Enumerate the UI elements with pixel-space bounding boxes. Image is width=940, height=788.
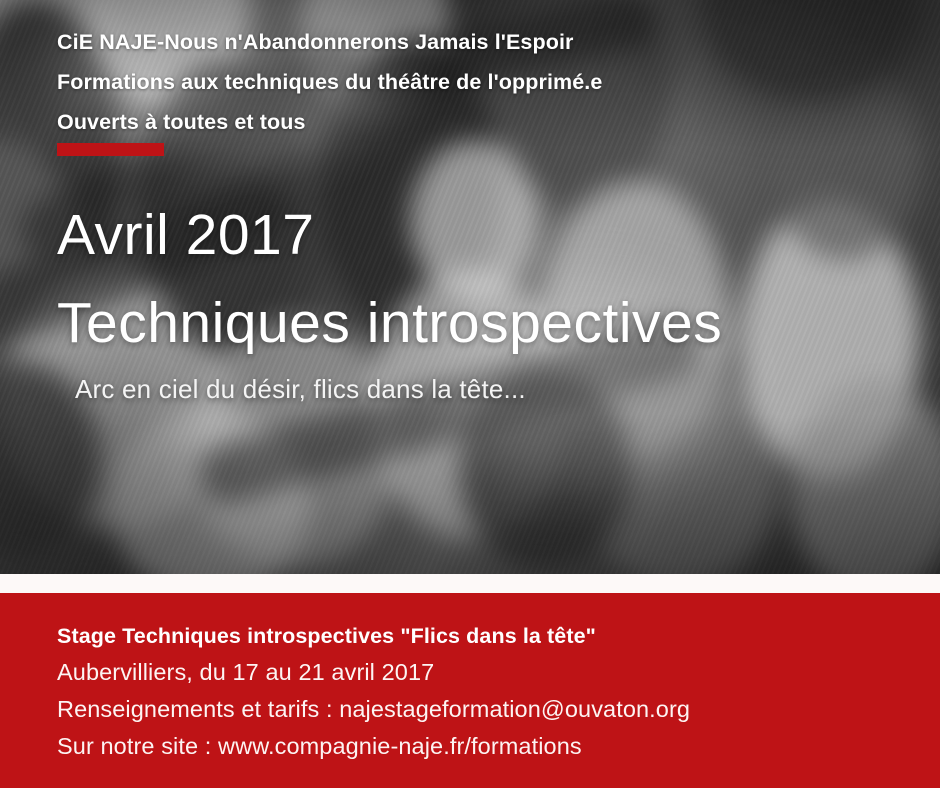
event-title: Techniques introspectives bbox=[57, 286, 927, 360]
main-title-block: Avril 2017 Techniques introspectives bbox=[57, 198, 927, 360]
header-line-formations: Formations aux techniques du théâtre de … bbox=[57, 62, 887, 102]
footer-contact-email: Renseignements et tarifs : najestageform… bbox=[57, 691, 917, 728]
footer-text-block: Stage Techniques introspectives "Flics d… bbox=[57, 618, 917, 765]
red-footer-banner: Stage Techniques introspectives "Flics d… bbox=[0, 593, 940, 788]
red-accent-bar bbox=[57, 143, 164, 156]
white-divider bbox=[0, 574, 940, 593]
footer-stage-title: Stage Techniques introspectives "Flics d… bbox=[57, 618, 917, 654]
header-line-ouverts: Ouverts à toutes et tous bbox=[57, 102, 887, 142]
event-date: Avril 2017 bbox=[57, 198, 927, 272]
poster: CiE NAJE-Nous n'Abandonnerons Jamais l'E… bbox=[0, 0, 940, 788]
footer-location-dates: Aubervilliers, du 17 au 21 avril 2017 bbox=[57, 654, 917, 691]
header-text-block: CiE NAJE-Nous n'Abandonnerons Jamais l'E… bbox=[57, 22, 887, 142]
header-line-organisation: CiE NAJE-Nous n'Abandonnerons Jamais l'E… bbox=[57, 22, 887, 62]
event-subtitle: Arc en ciel du désir, flics dans la tête… bbox=[75, 374, 526, 405]
footer-website-url: Sur notre site : www.compagnie-naje.fr/f… bbox=[57, 728, 917, 765]
